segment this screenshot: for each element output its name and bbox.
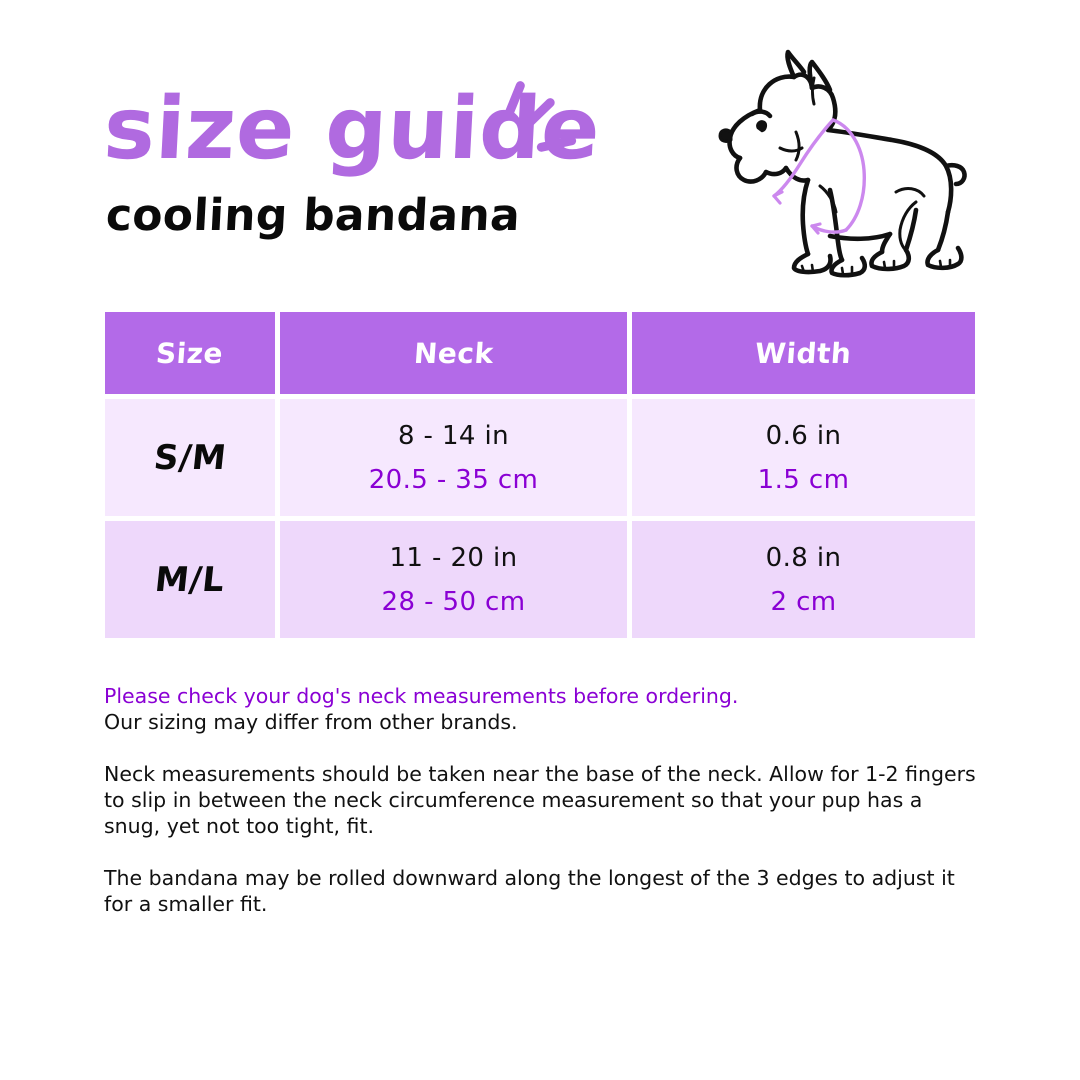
- table-row: M/L 11 - 20 in 28 - 50 cm 0.8 in 2 cm: [105, 521, 975, 638]
- table-header-width-label: Width: [754, 337, 853, 370]
- table-cell-size: M/L: [105, 521, 275, 638]
- table-row: S/M 8 - 14 in 20.5 - 35 cm 0.6 in 1.5 cm: [105, 399, 975, 516]
- width-value-inches: 0.6 in: [766, 421, 842, 451]
- size-label: M/L: [153, 560, 227, 600]
- header-block: size guide cooling bandana: [0, 0, 1080, 292]
- sparkle-dash-2: [524, 96, 556, 127]
- page-subtitle: cooling bandana: [105, 194, 625, 238]
- sparkle-dash-1: [503, 80, 526, 120]
- french-bulldog-illustration: [700, 40, 980, 290]
- note-paragraph-2: The bandana may be rolled downward along…: [104, 865, 976, 917]
- table-cell-size: S/M: [105, 399, 275, 516]
- table-header-row: Size Neck Width: [105, 312, 975, 394]
- size-table: Size Neck Width S/M 8 - 14 in 20.5 - 35 …: [105, 312, 975, 638]
- width-value-centimeters: 1.5 cm: [758, 465, 850, 495]
- width-value-inches: 0.8 in: [766, 543, 842, 573]
- table-header-neck-label: Neck: [413, 337, 495, 370]
- sparkle-dash-3: [536, 135, 577, 152]
- width-value-centimeters: 2 cm: [770, 587, 836, 617]
- table-header-neck: Neck: [280, 312, 627, 394]
- neck-value-centimeters: 20.5 - 35 cm: [369, 465, 539, 495]
- notes-section: Please check your dog's neck measurement…: [104, 683, 976, 917]
- table-header-width: Width: [632, 312, 975, 394]
- neck-value-inches: 8 - 14 in: [398, 421, 509, 451]
- neck-value-centimeters: 28 - 50 cm: [382, 587, 526, 617]
- note-subline: Our sizing may differ from other brands.: [104, 709, 976, 735]
- table-cell-width: 0.8 in 2 cm: [632, 521, 975, 638]
- note-spacer: [104, 735, 976, 761]
- table-cell-neck: 11 - 20 in 28 - 50 cm: [280, 521, 627, 638]
- neck-value-inches: 11 - 20 in: [389, 543, 517, 573]
- table-header-size-label: Size: [155, 337, 224, 370]
- note-highlight: Please check your dog's neck measurement…: [104, 683, 976, 709]
- table-cell-neck: 8 - 14 in 20.5 - 35 cm: [280, 399, 627, 516]
- note-paragraph-1: Neck measurements should be taken near t…: [104, 761, 976, 839]
- table-header-size: Size: [105, 312, 275, 394]
- table-cell-width: 0.6 in 1.5 cm: [632, 399, 975, 516]
- sparkle-icon: [492, 78, 572, 156]
- note-spacer: [104, 839, 976, 865]
- size-label: S/M: [152, 438, 228, 478]
